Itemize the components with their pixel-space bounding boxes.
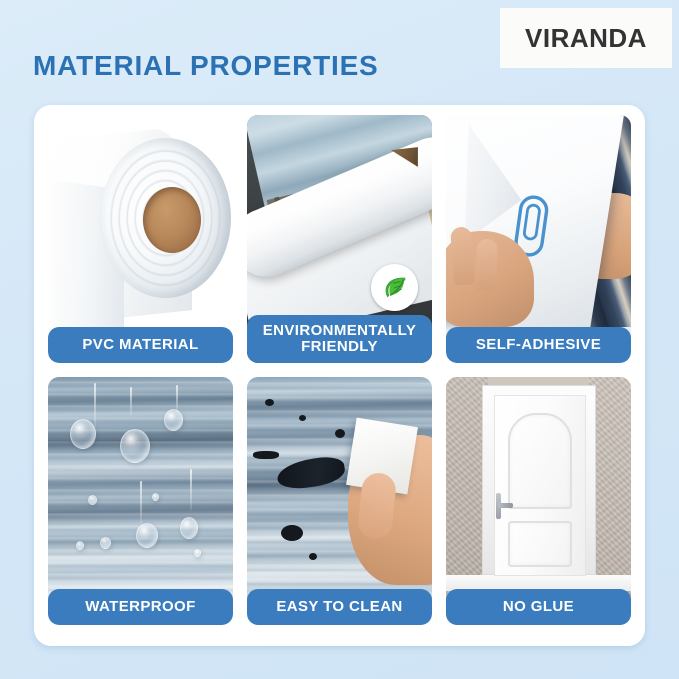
page-title: MATERIAL PROPERTIES — [33, 50, 379, 82]
feature-card-pvc-material[interactable]: PVC MATERIAL — [48, 115, 233, 363]
card-label-environmentally-friendly: ENVIRONMENTALLY FRIENDLY — [247, 315, 432, 363]
waterproof-droplets-image — [48, 377, 233, 625]
card-label-self-adhesive: SELF-ADHESIVE — [446, 327, 631, 363]
card-label-easy-to-clean: EASY TO CLEAN — [247, 589, 432, 625]
brand-name: VIRANDA — [525, 23, 647, 54]
card-label-no-glue: NO GLUE — [446, 589, 631, 625]
green-leaf-icon — [371, 264, 418, 311]
self-adhesive-peel-image — [446, 115, 631, 363]
feature-card-no-glue[interactable]: NO GLUE — [446, 377, 631, 625]
no-glue-door-image — [446, 377, 631, 625]
feature-card-self-adhesive[interactable]: SELF-ADHESIVE — [446, 115, 631, 363]
feature-card-waterproof[interactable]: WATERPROOF — [48, 377, 233, 625]
card-label-line1: ENVIRONMENTALLY — [263, 322, 417, 339]
brand-logo-box: VIRANDA — [500, 8, 672, 68]
feature-card-environmentally-friendly[interactable]: ENVIRONMENTALLY FRIENDLY — [247, 115, 432, 363]
card-label-line2: FRIENDLY — [301, 338, 378, 355]
feature-card-easy-to-clean[interactable]: EASY TO CLEAN — [247, 377, 432, 625]
easy-to-clean-wipe-image — [247, 377, 432, 625]
card-label-pvc-material: PVC MATERIAL — [48, 327, 233, 363]
pvc-roll-image — [48, 115, 233, 363]
feature-panel: PVC MATERIAL — [34, 105, 645, 646]
card-label-waterproof: WATERPROOF — [48, 589, 233, 625]
feature-grid: PVC MATERIAL — [48, 115, 631, 636]
